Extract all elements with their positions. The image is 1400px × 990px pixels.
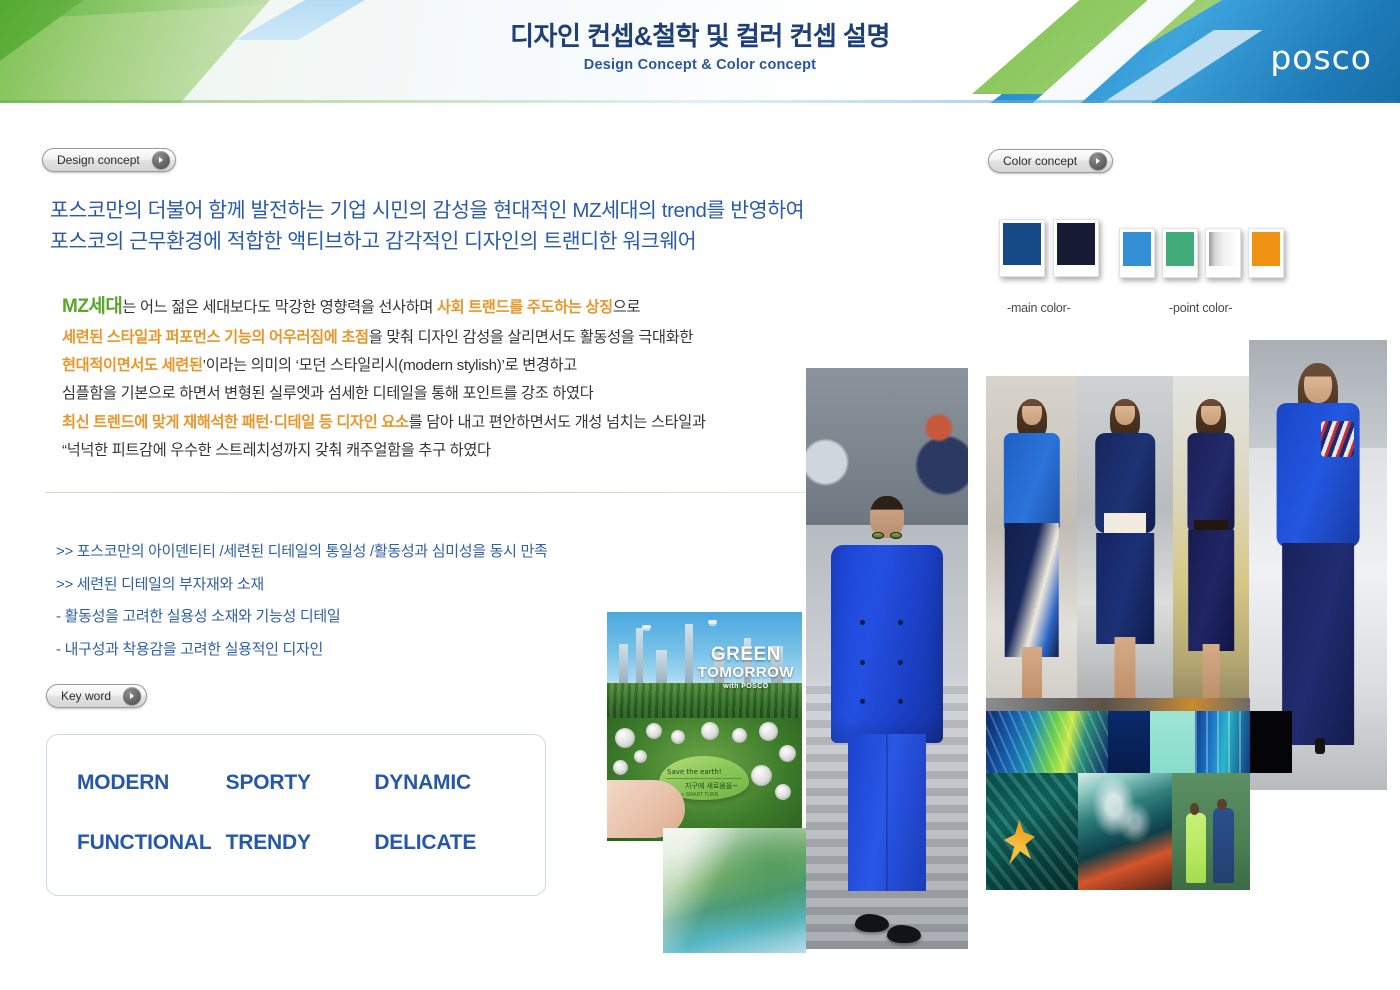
asymmetric-skirt bbox=[1004, 523, 1059, 657]
runway-woman-photo-1 bbox=[986, 376, 1077, 711]
body-line-2: 세련된 스타일과 퍼포먼스 기능의 어우러짐에 초점을 맞춰 디자인 감성을 살… bbox=[62, 324, 802, 352]
navy-outfit bbox=[1213, 808, 1235, 883]
watercolor-texture bbox=[663, 828, 806, 953]
lead-line-2: 포스코의 근무환경에 적합한 액티브하고 감각적인 디자인의 트랜디한 워크웨어 bbox=[50, 230, 696, 253]
dress-shoe bbox=[887, 925, 921, 943]
blue-blouse bbox=[1003, 433, 1059, 534]
arrow-right-icon bbox=[152, 151, 170, 169]
swatch-point-4 bbox=[1248, 228, 1284, 278]
leaf-text-ko: 지구에 새로움을~ bbox=[685, 781, 738, 791]
navy-shirt-dress-skirt bbox=[1188, 530, 1234, 651]
model-legs bbox=[1021, 647, 1041, 701]
bottle-cap bbox=[775, 784, 791, 800]
drone-icon bbox=[708, 620, 717, 624]
mint-texture bbox=[1150, 711, 1195, 773]
slide-root: 디자인 컨셉&철학 및 컬러 컨셉 설명 Design Concept & Co… bbox=[0, 0, 1400, 990]
building bbox=[636, 628, 643, 690]
runway-woman-photo-3 bbox=[1173, 376, 1249, 711]
lead-paragraph: 포스코만의 더불어 함께 발전하는 기업 시민의 감성을 현대적인 MZ세대의 … bbox=[50, 196, 930, 258]
color-chip bbox=[1166, 232, 1194, 266]
body-line-1-a: 는 어느 젊은 세대보다도 막강한 영향력을 선사하며 bbox=[122, 299, 437, 316]
slide-header: 디자인 컨셉&철학 및 컬러 컨셉 설명 Design Concept & Co… bbox=[0, 0, 1400, 103]
leaf-text-en: Save the earth! bbox=[667, 768, 722, 776]
bottle-cap bbox=[732, 728, 747, 743]
key-word-label: Key word bbox=[61, 689, 111, 703]
keyword-functional: FUNCTIONAL bbox=[77, 831, 226, 855]
body-line-1-b: 으로 bbox=[613, 299, 640, 316]
list-item: >> 포스코만의 아이덴티티 /세련된 디테일의 통일성 /활동성과 심미성을 … bbox=[56, 536, 816, 569]
body-line-2-a: 을 맞춰 디자인 감성을 살리면서도 활동성을 극대화한 bbox=[369, 329, 693, 346]
model-legs bbox=[1203, 644, 1220, 698]
navy-dress-skirt bbox=[1096, 533, 1154, 644]
texture-navy-photo bbox=[1108, 711, 1150, 773]
color-chip bbox=[1003, 223, 1041, 265]
blue-suit-jacket bbox=[831, 545, 943, 743]
save-the-earth-photo: Save the earth! 지구에 새로움을~ POSCO x SMART … bbox=[607, 718, 802, 841]
neon-foliage-texture bbox=[986, 711, 1108, 773]
runway-man-photo bbox=[806, 368, 968, 949]
green-tomorrow-line-3: with POSCO bbox=[698, 683, 794, 690]
point-color-caption: -point color- bbox=[1169, 301, 1232, 315]
texture-cyan-bar-photo bbox=[1195, 711, 1250, 773]
header-divider bbox=[0, 100, 1400, 103]
body-line-5: 최신 트렌드에 맞게 재해석한 패턴·디테일 등 디자인 요소를 담아 내고 편… bbox=[62, 409, 802, 437]
body-line-3: 현대적이면서도 세련된’이라는 의미의 ‘모던 스타일리시(modern sty… bbox=[62, 352, 802, 380]
point-color-swatches bbox=[1119, 228, 1284, 278]
lead-line-1: 포스코만의 더불어 함께 발전하는 기업 시민의 감성을 현대적인 MZ세대의 … bbox=[50, 199, 804, 222]
swatch-main-2 bbox=[1053, 219, 1099, 277]
navy-shirt-dress-top bbox=[1187, 433, 1234, 534]
texture-top-strip bbox=[986, 698, 1250, 711]
green-tomorrow-photo: GREEN TOMORROW with POSCO bbox=[607, 612, 802, 720]
model-head bbox=[1201, 399, 1221, 425]
texture-black-photo bbox=[1250, 711, 1292, 773]
palm-leaf-texture bbox=[986, 773, 1078, 890]
swatch-point-2 bbox=[1162, 228, 1198, 278]
keyword-grid: MODERN SPORTY DYNAMIC FUNCTIONAL TRENDY … bbox=[47, 735, 545, 895]
green-wall-background bbox=[1172, 773, 1250, 890]
color-chip bbox=[1057, 223, 1095, 265]
color-concept-label: Color concept bbox=[1003, 154, 1077, 168]
swatch-main-1 bbox=[999, 219, 1045, 277]
drone-icon bbox=[642, 625, 651, 629]
texture-palm-photo bbox=[986, 773, 1078, 890]
color-chip bbox=[1209, 232, 1237, 266]
body-line-5-a: 를 담아 내고 편안하면서도 개성 넘치는 스타일과 bbox=[409, 414, 706, 431]
bottle-cap bbox=[646, 723, 662, 739]
body-paragraph: MZ세대는 어느 젊은 세대보다도 막강한 영향력을 선사하며 사회 트랜드를 … bbox=[62, 289, 802, 465]
heeled-shoe bbox=[1315, 738, 1325, 754]
cyan-bar-texture bbox=[1195, 711, 1250, 773]
key-word-badge[interactable]: Key word bbox=[46, 684, 147, 708]
navy-maxi-skirt bbox=[1282, 543, 1354, 746]
watercolor-photo bbox=[663, 828, 806, 953]
keyword-delicate: DELICATE bbox=[374, 831, 523, 855]
swatch-point-1 bbox=[1119, 228, 1155, 278]
arrow-right-icon bbox=[1089, 152, 1107, 170]
striped-scarf bbox=[1321, 421, 1354, 457]
bottle-cap bbox=[613, 760, 628, 775]
section-divider bbox=[46, 492, 806, 493]
aerial-coast-texture bbox=[1078, 773, 1172, 890]
body-line-2-orange: 세련된 스타일과 퍼포먼스 기능의 어우러짐에 초점 bbox=[62, 329, 369, 346]
design-concept-badge[interactable]: Design concept bbox=[42, 148, 176, 172]
model-head bbox=[1115, 399, 1135, 425]
body-line-4: 심플함을 기본으로 하면서 변형된 실루엣과 섬세한 디테일을 통해 포인트를 … bbox=[62, 380, 802, 408]
building bbox=[685, 624, 693, 690]
mz-generation-highlight: MZ세대 bbox=[62, 296, 122, 317]
keyword-panel: MODERN SPORTY DYNAMIC FUNCTIONAL TRENDY … bbox=[46, 734, 546, 896]
texture-coast-photo bbox=[1078, 773, 1172, 890]
list-item: >> 세련된 디테일의 부자재와 소재 bbox=[56, 569, 816, 602]
keyword-dynamic: DYNAMIC bbox=[374, 771, 523, 795]
design-concept-label: Design concept bbox=[57, 153, 140, 167]
swatch-point-3 bbox=[1205, 228, 1241, 278]
couple-photo bbox=[1172, 773, 1250, 890]
green-tomorrow-line-2: TOMORROW bbox=[698, 665, 794, 680]
sunglasses-icon bbox=[872, 532, 902, 539]
body-line-1: MZ세대는 어느 젊은 세대보다도 막강한 영향력을 선사하며 사회 트랜드를 … bbox=[62, 289, 802, 324]
texture-mint-photo bbox=[1150, 711, 1195, 773]
runway-woman-photo-2 bbox=[1077, 376, 1173, 711]
body-line-5-orange: 최신 트렌드에 맞게 재해석한 패턴·디테일 등 디자인 요소 bbox=[62, 414, 409, 431]
color-concept-badge[interactable]: Color concept bbox=[988, 149, 1113, 173]
body-line-3-orange: 현대적이면서도 세련된 bbox=[62, 357, 203, 374]
bottle-cap bbox=[759, 722, 778, 741]
color-chip bbox=[1123, 232, 1151, 266]
keyword-trendy: TRENDY bbox=[226, 831, 375, 855]
blue-trousers bbox=[848, 734, 926, 891]
body-line-1-orange: 사회 트랜드를 주도하는 상징 bbox=[437, 299, 613, 316]
green-tomorrow-text: GREEN TOMORROW with POSCO bbox=[698, 645, 794, 690]
bottle-cap bbox=[701, 722, 719, 740]
bottle-cap bbox=[779, 745, 796, 762]
neon-green-outfit bbox=[1186, 813, 1206, 883]
model-legs bbox=[1114, 637, 1135, 697]
arrow-right-icon bbox=[123, 687, 141, 705]
bottle-cap bbox=[751, 765, 772, 786]
main-color-swatches bbox=[999, 219, 1099, 277]
navy-texture bbox=[1108, 711, 1150, 773]
body-line-6: “넉넉한 피트감에 우수한 스트레치성까지 갖춰 캐주얼함을 추구 하였다 bbox=[62, 437, 802, 465]
keyword-modern: MODERN bbox=[77, 771, 226, 795]
main-color-caption: -main color- bbox=[1007, 301, 1071, 315]
model-head bbox=[1304, 367, 1332, 403]
color-chip bbox=[1252, 232, 1280, 266]
black-texture bbox=[1250, 711, 1292, 773]
texture-neon-photo bbox=[986, 711, 1108, 773]
bottle-cap bbox=[615, 728, 635, 748]
posco-logo: posco bbox=[1270, 38, 1372, 77]
green-tomorrow-line-1: GREEN bbox=[698, 645, 794, 664]
model-head bbox=[1217, 799, 1226, 811]
keyword-sporty: SPORTY bbox=[226, 771, 375, 795]
body-line-3-a: ’이라는 의미의 ‘모던 스타일리시(modern stylish)’로 변경하… bbox=[203, 357, 577, 374]
model-head bbox=[1022, 399, 1042, 425]
